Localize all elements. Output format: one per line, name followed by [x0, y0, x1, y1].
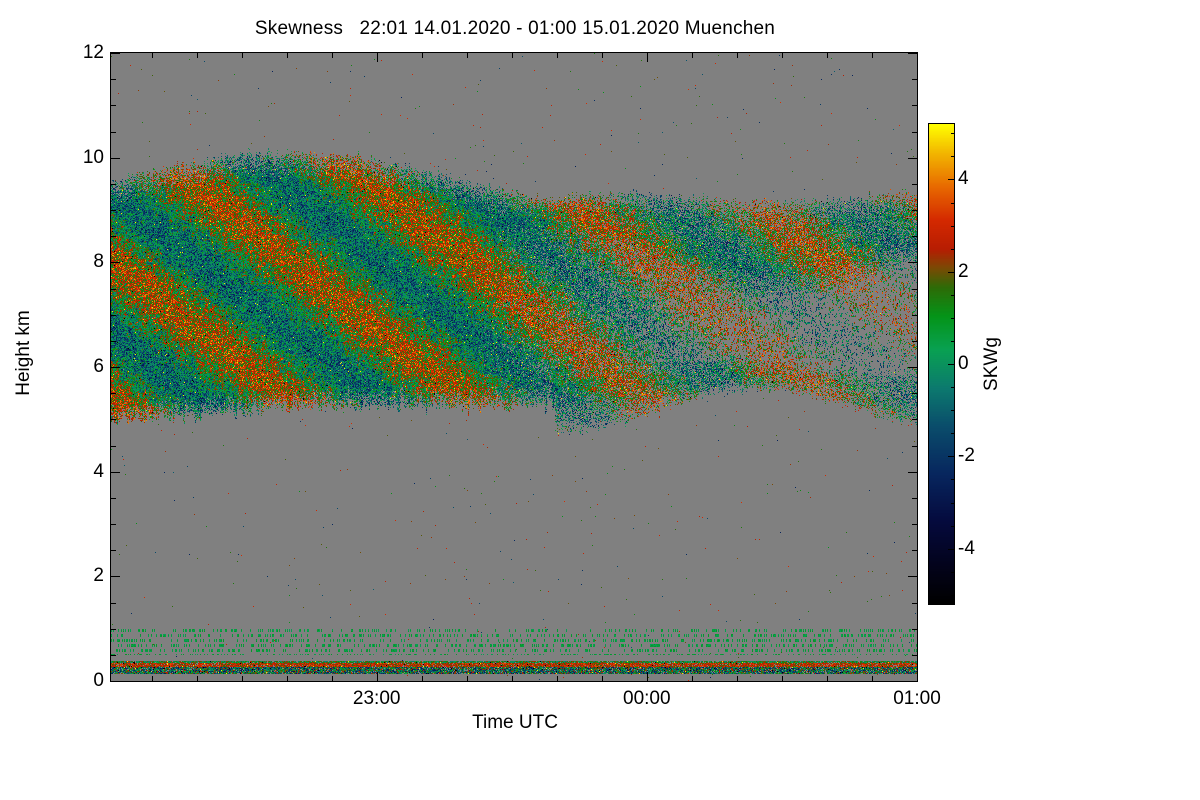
x-tick-label: 01:00 — [893, 688, 941, 710]
y-tick-label: 0 — [60, 671, 104, 690]
y-axis-title-wrap: Height km — [0, 52, 1, 682]
y-tick-label: 4 — [60, 462, 104, 481]
x-tick-label: 00:00 — [623, 688, 671, 710]
x-minor-tick-top — [602, 53, 603, 58]
y-major-tick — [111, 681, 120, 682]
y-major-tick-right — [908, 53, 917, 54]
y-minor-tick-right — [912, 341, 917, 342]
y-axis-title: Height km — [13, 263, 35, 443]
y-minor-tick-right — [912, 79, 917, 80]
y-minor-tick — [111, 132, 116, 133]
y-minor-tick-right — [912, 419, 917, 420]
x-minor-tick-top — [467, 53, 468, 58]
x-major-tick-top — [917, 53, 918, 62]
x-minor-tick-top — [287, 53, 288, 58]
x-major-tick — [917, 672, 918, 681]
colorbar-title-wrap: SKWg — [990, 123, 991, 605]
x-minor-tick — [512, 676, 513, 681]
y-minor-tick-right — [912, 393, 917, 394]
figure-root: Skewness 22:01 14.01.2020 - 01:00 15.01.… — [0, 0, 1200, 800]
y-minor-tick-right — [912, 184, 917, 185]
colorbar-title: SKWg — [981, 274, 1003, 454]
y-minor-tick-right — [912, 603, 917, 604]
x-minor-tick-top — [152, 53, 153, 58]
y-tick-label: 6 — [60, 357, 104, 376]
y-tick-label: 8 — [60, 252, 104, 271]
x-tick-label: 23:00 — [353, 688, 401, 710]
y-minor-tick — [111, 289, 116, 290]
y-tick-label: 10 — [60, 148, 104, 167]
y-minor-tick-right — [912, 105, 917, 106]
x-minor-tick-top — [332, 53, 333, 58]
colorbar[interactable] — [928, 123, 955, 605]
x-minor-tick-top — [197, 53, 198, 58]
y-minor-tick — [111, 79, 116, 80]
x-axis-tick-labels: 23:0000:0001:00 — [110, 688, 920, 714]
x-minor-tick-top — [512, 53, 513, 58]
y-minor-tick-right — [912, 236, 917, 237]
y-minor-tick — [111, 550, 116, 551]
x-minor-tick-top — [692, 53, 693, 58]
y-major-tick-right — [908, 472, 917, 473]
y-minor-tick-right — [912, 524, 917, 525]
x-minor-tick-top — [872, 53, 873, 58]
y-minor-tick — [111, 603, 116, 604]
y-minor-tick — [111, 524, 116, 525]
x-minor-tick — [557, 676, 558, 681]
x-minor-tick — [242, 676, 243, 681]
x-major-tick-top — [647, 53, 648, 62]
x-minor-tick — [287, 676, 288, 681]
heatmap-canvas — [111, 53, 917, 681]
y-major-tick — [111, 158, 120, 159]
y-tick-label: 12 — [60, 43, 104, 62]
x-minor-tick-top — [737, 53, 738, 58]
x-minor-tick — [332, 676, 333, 681]
y-minor-tick — [111, 629, 116, 630]
x-minor-tick — [782, 676, 783, 681]
heatmap-plot-area[interactable] — [110, 52, 918, 682]
y-major-tick-right — [908, 576, 917, 577]
y-minor-tick — [111, 236, 116, 237]
y-minor-tick — [111, 210, 116, 211]
x-minor-tick — [692, 676, 693, 681]
colorbar-tick-label: 4 — [958, 169, 992, 188]
y-minor-tick — [111, 393, 116, 394]
x-major-tick-top — [377, 53, 378, 62]
y-major-tick — [111, 367, 120, 368]
y-tick-label: 2 — [60, 566, 104, 585]
colorbar-tick-label: -4 — [958, 539, 992, 558]
x-major-tick — [647, 672, 648, 681]
y-major-tick — [111, 262, 120, 263]
x-minor-tick-top — [422, 53, 423, 58]
x-minor-tick-top — [242, 53, 243, 58]
x-minor-tick — [152, 676, 153, 681]
y-minor-tick — [111, 184, 116, 185]
y-minor-tick — [111, 105, 116, 106]
x-minor-tick — [602, 676, 603, 681]
x-minor-tick — [467, 676, 468, 681]
y-axis-tick-labels: 024681012 — [52, 52, 104, 682]
x-minor-tick — [737, 676, 738, 681]
y-minor-tick-right — [912, 655, 917, 656]
x-minor-tick — [827, 676, 828, 681]
y-minor-tick — [111, 419, 116, 420]
colorbar-gradient — [929, 124, 954, 604]
y-major-tick-right — [908, 681, 917, 682]
y-minor-tick — [111, 341, 116, 342]
y-minor-tick — [111, 446, 116, 447]
y-minor-tick — [111, 498, 116, 499]
y-minor-tick-right — [912, 210, 917, 211]
y-minor-tick-right — [912, 446, 917, 447]
x-minor-tick — [872, 676, 873, 681]
x-minor-tick-top — [557, 53, 558, 58]
x-minor-tick — [422, 676, 423, 681]
y-major-tick-right — [908, 158, 917, 159]
y-minor-tick — [111, 315, 116, 316]
y-major-tick — [111, 472, 120, 473]
x-axis-title: Time UTC — [110, 712, 920, 734]
y-minor-tick-right — [912, 289, 917, 290]
x-minor-tick — [197, 676, 198, 681]
y-major-tick-right — [908, 367, 917, 368]
y-minor-tick-right — [912, 629, 917, 630]
y-major-tick-right — [908, 262, 917, 263]
y-minor-tick — [111, 655, 116, 656]
page-title: Skewness 22:01 14.01.2020 - 01:00 15.01.… — [110, 18, 920, 40]
y-minor-tick-right — [912, 498, 917, 499]
y-major-tick — [111, 576, 120, 577]
x-major-tick — [377, 672, 378, 681]
y-minor-tick-right — [912, 132, 917, 133]
y-minor-tick-right — [912, 550, 917, 551]
x-minor-tick-top — [827, 53, 828, 58]
x-minor-tick-top — [782, 53, 783, 58]
y-major-tick — [111, 53, 120, 54]
y-minor-tick-right — [912, 315, 917, 316]
